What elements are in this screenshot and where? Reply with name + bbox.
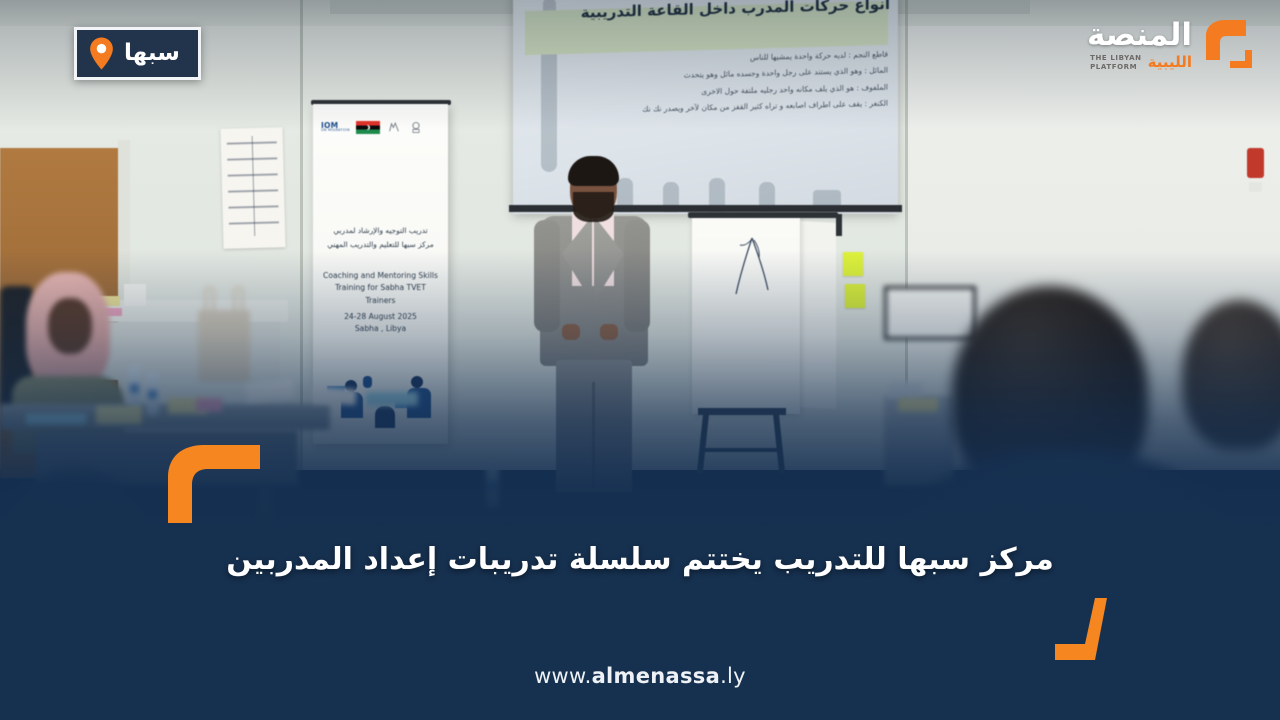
location-label: سبها [124,42,180,65]
partner-logo-icon [386,120,402,135]
brand-logo[interactable]: المنصة THE LIBYAN PLATFORM الليبية [1087,16,1262,72]
flipchart-clip [688,212,838,218]
slide-line: الكنغر : يقف على اطراف اصابعه و تراه كثي… [527,99,888,117]
desk-notes [96,406,142,424]
banner-en-line1: Coaching and Mentoring Skills [319,270,442,282]
banner-logos: IOM UN MIGRATION [321,116,440,138]
brand-name-english: THE LIBYAN PLATFORM [1090,54,1142,72]
map-pin-icon [89,37,114,70]
almenassa-logo-mark-icon [1200,16,1262,72]
slide-line: المائل : وهو الذي يستند على رجل واحدة وج… [527,66,888,84]
brand-name-arabic-2: الليبية [1148,55,1192,70]
iom-sub: UN MIGRATION [321,129,350,132]
laptop-device [886,382,923,398]
table-leg [258,486,272,544]
brand-en-line2: PLATFORM [1090,63,1142,72]
flipchart-sketch-icon [726,234,778,298]
desk-notes [311,386,356,405]
easel-tray [698,408,786,415]
location-badge[interactable]: سبها [74,27,201,80]
orange-bracket-ra-icon [168,443,260,523]
flipchart-pole [836,214,842,236]
desk-notes [898,398,938,412]
slide-body: قاطع النجم : لديه حركة واحدة يمشيها للنا… [527,54,888,120]
tote-bag [198,310,250,382]
wall-picture-frame [884,286,976,340]
banner-ar-line2: مركز سبها للتعليم والتدريب المهني [319,238,442,252]
url-name: almenassa [592,664,721,688]
banner-title-english: Coaching and Mentoring Skills Training f… [319,270,442,335]
banner-ar-line1: تدريب التوجيه والإرشاد لمدربي [319,224,442,238]
orange-bracket-lam-icon [1055,598,1113,660]
flipchart-back-sheet [800,221,836,409]
desk-notes [366,392,418,406]
water-bottle [128,366,141,410]
easel-brace [704,448,780,452]
water-bottle [146,372,159,416]
banner-title-arabic: تدريب التوجيه والإرشاد لمدربي مركز سبها … [319,224,442,253]
banner-place: Sabha , Libya [319,323,442,335]
desk-box [124,284,146,306]
presenter-person [528,160,656,490]
sticky-note [843,252,863,276]
url-prefix: www. [534,664,591,688]
brand-en-line1: THE LIBYAN [1090,54,1142,63]
fire-alarm-icon [1247,148,1264,178]
libya-flag-icon [356,121,380,134]
desk-notes [196,398,222,412]
page-title: مركز سبها للتدريب يختتم سلسلة تدريبات إع… [0,540,1280,581]
wall-seam [300,0,303,470]
desk-notes [26,414,86,424]
url-suffix: .ly [720,664,746,688]
iom-logo: IOM UN MIGRATION [321,122,350,133]
footer-url[interactable]: www.almenassa.ly [0,664,1280,688]
brand-name-arabic: المنصة [1087,20,1192,51]
brand-subrow: THE LIBYAN PLATFORM الليبية [1087,54,1192,72]
water-bottle [486,464,499,508]
ministry-logo-icon [408,120,424,135]
slide-line: الملفوف : هو الذي يلف مكانه واحد رجليه م… [527,82,888,100]
news-card: انواع حركات المدرب داخل القاعة التدريبية… [0,0,1280,720]
banner-en-line2: Training for Sabha TVET Trainers [319,282,442,307]
sticky-note [845,284,865,308]
banner-dates: 24-28 August 2025 [319,311,442,323]
brand-text: المنصة THE LIBYAN PLATFORM الليبية [1087,16,1192,72]
alarm-button [1249,182,1262,192]
wall-flipchart-sheet [220,127,285,249]
